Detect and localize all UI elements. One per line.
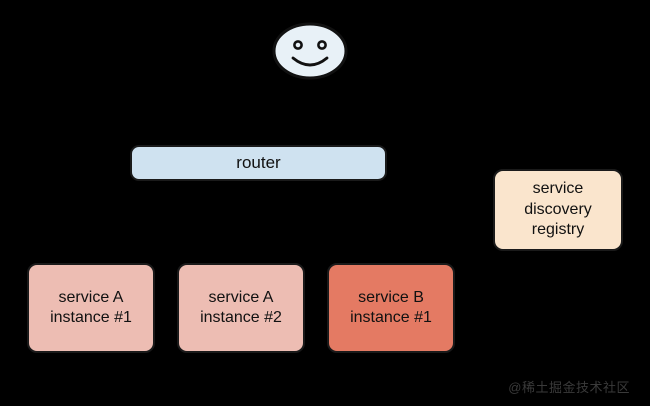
connector-router-to-service-b1 [391, 181, 393, 263]
connector-router-to-service-a2 [241, 181, 243, 263]
node-service-b-instance-1[interactable]: service B instance #1 [327, 263, 455, 353]
node-router[interactable]: router [130, 145, 387, 181]
node-service-a-instance-1[interactable]: service A instance #1 [27, 263, 155, 353]
connector-router-to-service-a1 [91, 181, 93, 263]
user-actor [271, 22, 349, 80]
diagram-canvas: router service discovery registry servic… [0, 0, 650, 406]
connector-registry-to-router [387, 209, 493, 211]
node-service-a-instance-2[interactable]: service A instance #2 [177, 263, 305, 353]
connector-actor-to-router [309, 80, 311, 145]
smiley-face-icon [271, 22, 349, 80]
node-service-discovery-registry[interactable]: service discovery registry [493, 169, 623, 251]
watermark: @稀土掘金技术社区 [508, 377, 630, 396]
